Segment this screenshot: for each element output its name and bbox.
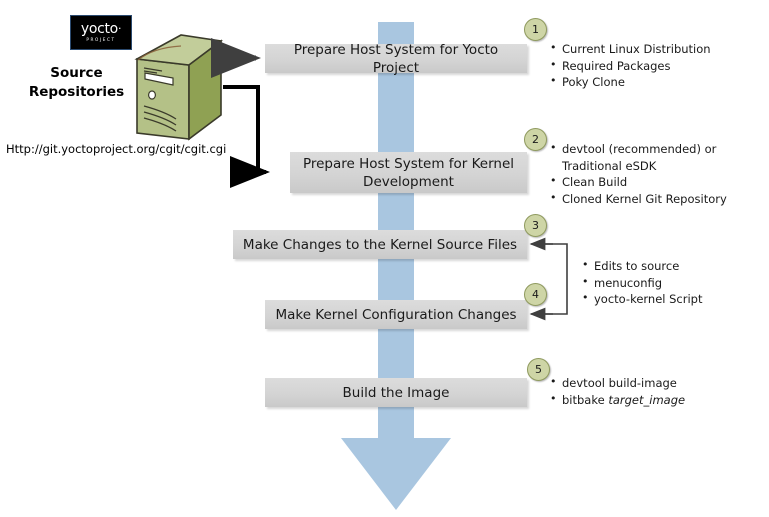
step-badge-1-number: 1 — [532, 23, 539, 36]
bracket-steps-3-4 — [540, 244, 567, 314]
list-item: Cloned Kernel Git Repository — [550, 191, 727, 208]
step-box-3[interactable]: Make Changes to the Kernel Source Files — [233, 230, 527, 259]
step-badge-5: 5 — [527, 358, 550, 381]
list-item: Clean Build — [550, 174, 727, 191]
step-badge-3: 3 — [524, 214, 547, 237]
step-badge-5-number: 5 — [535, 363, 542, 376]
list-item: devtool build-image — [550, 375, 685, 392]
step-badge-2-number: 2 — [532, 133, 539, 146]
step-1-title: Prepare Host System for Yocto Project — [273, 41, 519, 77]
server-tower-icon — [131, 33, 223, 141]
step-box-1[interactable]: Prepare Host System for Yocto Project — [265, 44, 527, 73]
source-label-line2: Repositories — [14, 83, 139, 102]
step-badge-2: 2 — [524, 128, 547, 151]
step-2-title-line1: Prepare Host System for Kernel — [303, 155, 514, 173]
step-1-bullets: Current Linux Distribution Required Pack… — [550, 41, 711, 91]
source-label-line1: Source — [14, 64, 139, 83]
step-badge-1: 1 — [524, 18, 547, 41]
workflow-diagram: yocto· PROJECT Source Repositories Http:… — [0, 0, 769, 517]
repository-url: Http://git.yoctoproject.org/cgit/cgit.cg… — [6, 142, 226, 156]
bitbake-target-image: target_image — [608, 393, 685, 407]
list-item: yocto-kernel Script — [582, 291, 703, 308]
step-4-title: Make Kernel Configuration Changes — [275, 306, 516, 324]
steps-3-4-bullets: Edits to source menuconfig yocto-kernel … — [582, 258, 703, 308]
list-item: Current Linux Distribution — [550, 41, 711, 58]
step-badge-3-number: 3 — [532, 219, 539, 232]
step-box-4[interactable]: Make Kernel Configuration Changes — [265, 300, 527, 329]
flow-arrowhead-icon — [341, 438, 451, 510]
list-item: Edits to source — [582, 258, 703, 275]
yocto-project-logo: yocto· PROJECT — [70, 15, 132, 50]
step-2-bullets: devtool (recommended) or Traditional eSD… — [550, 141, 727, 207]
source-repositories-label: Source Repositories — [14, 64, 139, 102]
list-item: devtool (recommended) or Traditional eSD… — [550, 141, 722, 174]
step-badge-4-number: 4 — [532, 288, 539, 301]
list-item: menuconfig — [582, 275, 703, 292]
step-box-5[interactable]: Build the Image — [265, 378, 527, 407]
logo-wordmark-text: yocto — [81, 21, 118, 37]
list-item: Required Packages — [550, 58, 711, 75]
step-badge-4: 4 — [524, 283, 547, 306]
step-box-2[interactable]: Prepare Host System for Kernel Developme… — [290, 152, 527, 193]
step-5-title: Build the Image — [343, 384, 450, 402]
step-3-title: Make Changes to the Kernel Source Files — [243, 236, 517, 254]
bitbake-command-prefix: bitbake — [562, 393, 608, 407]
logo-wordmark: yocto· — [81, 22, 121, 36]
step-5-bullets: devtool build-image bitbake target_image — [550, 375, 685, 408]
list-item: bitbake target_image — [550, 392, 685, 409]
logo-dot: · — [118, 22, 121, 35]
logo-subtext: PROJECT — [86, 37, 115, 43]
arrow-server-to-step2-path — [223, 87, 258, 172]
step-2-title-line2: Development — [363, 173, 454, 191]
list-item: Poky Clone — [550, 74, 711, 91]
